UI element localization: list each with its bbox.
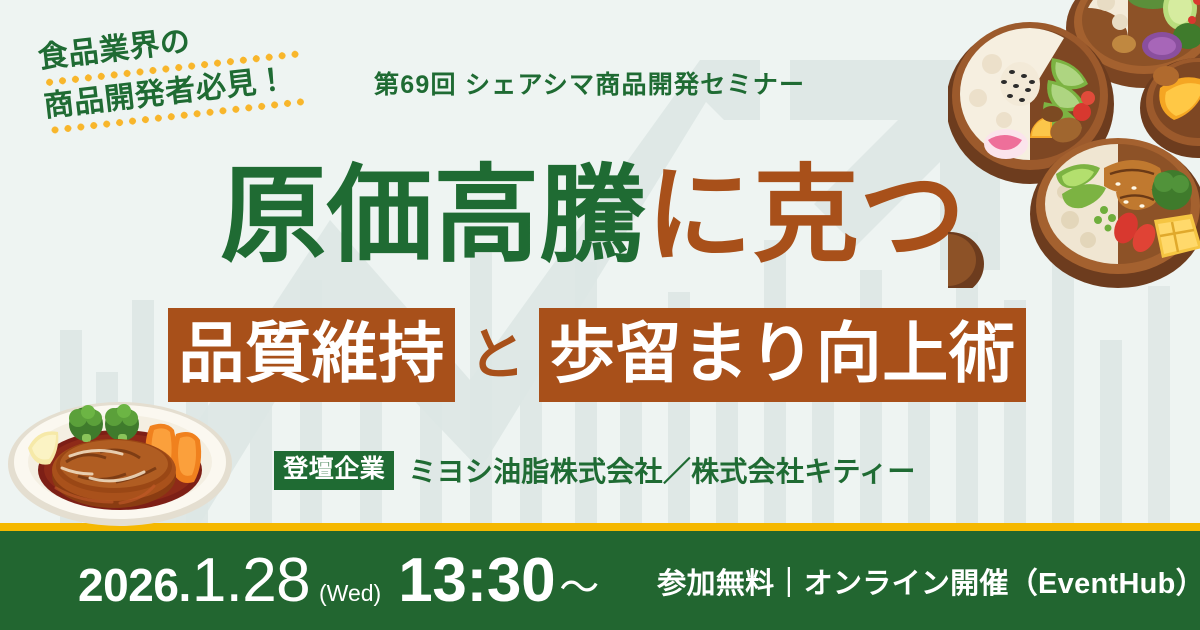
seminar-series-title: 第69回 シェアシマ商品開発セミナー <box>374 65 805 101</box>
speaker-company-names: ミヨシ油脂株式会社／株式会社キティー <box>408 450 915 490</box>
footer-bar: 2026. 1.28 (Wed) 13:30 〜 参加無料｜オンライン開催（Ev… <box>0 531 1200 630</box>
event-datetime: 2026. 1.28 (Wed) 13:30 〜 <box>78 545 599 616</box>
hamburger-patty <box>52 439 176 508</box>
bento-bowl-corner <box>948 232 984 288</box>
event-start-time: 13:30 <box>398 545 555 616</box>
event-meta-info: 参加無料｜オンライン開催（EventHub） <box>657 560 1200 602</box>
headline-green-text: 原価高騰 <box>220 157 646 275</box>
event-year: 2026. <box>78 558 191 612</box>
headline-box-yield: 歩留まり向上術 <box>539 308 1026 402</box>
headline-line-2: 品質維持 と 歩留まり向上術 <box>0 308 1200 402</box>
event-day-of-week: (Wed) <box>319 580 381 607</box>
headline-box-quality: 品質維持 <box>168 308 455 402</box>
hamburger-steak-plate-illustration <box>4 390 236 530</box>
headline-brown-text: に克つ <box>646 157 966 275</box>
speaker-badge: 登壇企業 <box>274 451 394 490</box>
event-time-suffix: 〜 <box>559 555 599 613</box>
seminar-banner: 食品業界の 商品開発者必見！ 第69回 シェアシマ商品開発セミナー 原価高騰に克… <box>0 0 1200 630</box>
event-month-day: 1.28 <box>192 545 310 616</box>
bento-bowls-illustration <box>948 0 1200 288</box>
headline-conjunction: と <box>465 327 529 383</box>
